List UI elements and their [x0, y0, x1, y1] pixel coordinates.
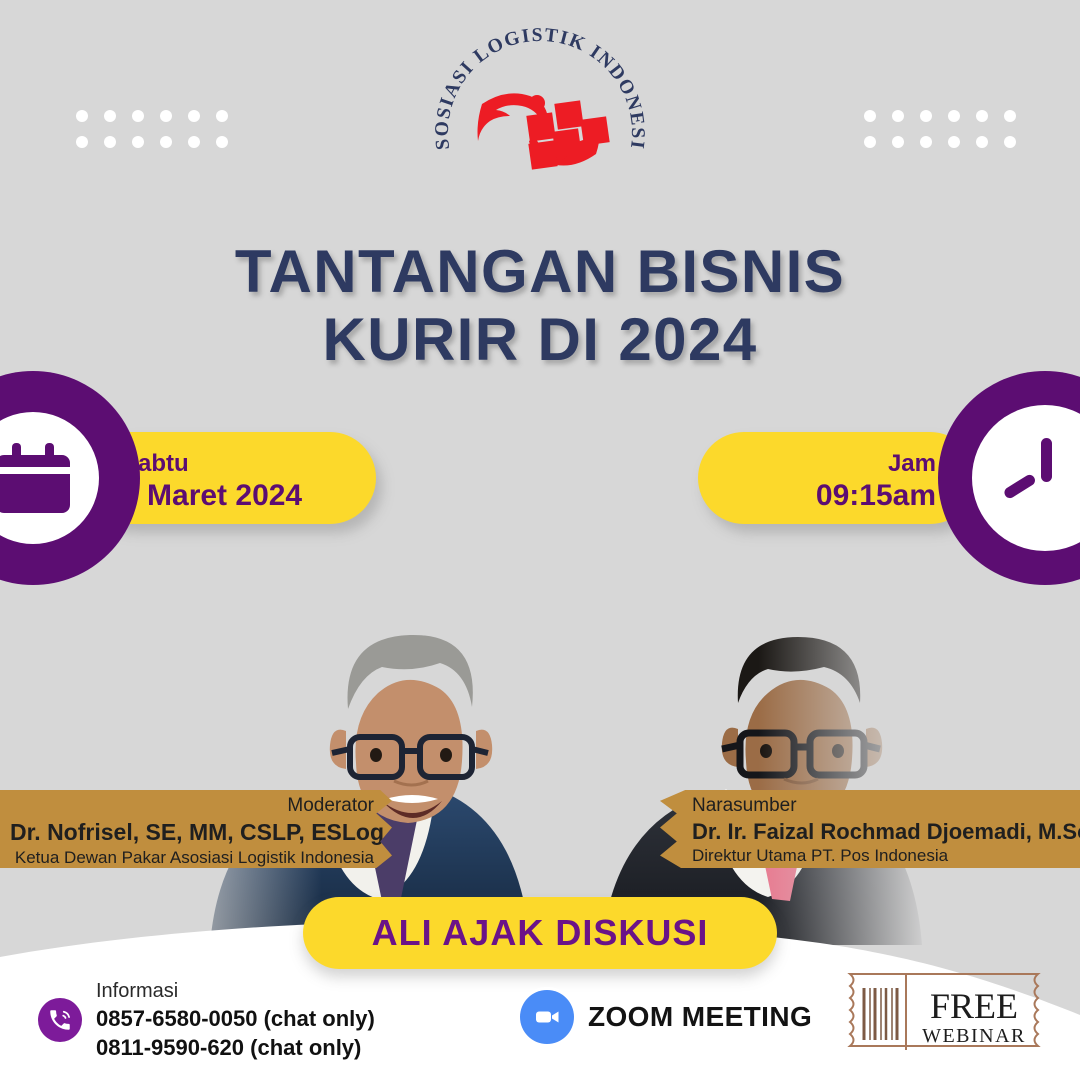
dot — [976, 110, 988, 122]
clock-badge-circle — [938, 371, 1080, 585]
dot — [948, 136, 960, 148]
dot — [104, 110, 116, 122]
narasumber-organization: Direktur Utama PT. Pos Indonesia — [692, 845, 1070, 866]
contact-text-block: Informasi 0857-6580-0050 (chat only) 081… — [96, 978, 375, 1062]
dot — [216, 110, 228, 122]
dot — [188, 136, 200, 148]
dot — [864, 110, 876, 122]
dot — [1004, 136, 1016, 148]
calendar-badge-circle — [0, 371, 140, 585]
moderator-organization: Ketua Dewan Pakar Asosiasi Logistik Indo… — [10, 847, 374, 868]
title-line-1: TANTANGAN BISNIS — [0, 238, 1080, 306]
narasumber-role: Narasumber — [692, 794, 1070, 818]
cta-label: ALI AJAK DISKUSI — [372, 912, 709, 954]
narasumber-name-banner: Narasumber Dr. Ir. Faizal Rochmad Djoema… — [660, 790, 1080, 868]
dot — [976, 136, 988, 148]
moderator-name-banner: Moderator Dr. Nofrisel, SE, MM, CSLP, ES… — [0, 790, 392, 868]
clock-icon — [972, 405, 1080, 551]
date-label: Sabtu — [122, 450, 302, 478]
time-label: Jam — [816, 450, 936, 478]
dot — [188, 110, 200, 122]
dot — [920, 110, 932, 122]
zoom-meeting-group: ZOOM MEETING — [520, 990, 812, 1044]
dot — [132, 110, 144, 122]
calendar-icon — [0, 412, 99, 544]
moderator-name: Dr. Nofrisel, SE, MM, CSLP, ESLog — [10, 818, 374, 847]
dot — [892, 136, 904, 148]
dot — [160, 110, 172, 122]
date-value: 9 Maret 2024 — [122, 478, 302, 513]
title-line-2: KURIR DI 2024 — [0, 306, 1080, 374]
phone-icon — [38, 998, 82, 1042]
dot — [216, 136, 228, 148]
dot-grid-left-decoration — [76, 110, 228, 148]
ticket-icon: FREE WEBINAR — [844, 966, 1044, 1058]
info-label: Informasi — [96, 978, 375, 1004]
dot — [76, 136, 88, 148]
ticket-line-1: FREE — [930, 986, 1018, 1026]
time-badge-pill: Jam 09:15am — [698, 432, 976, 524]
date-badge-text: Sabtu 9 Maret 2024 — [122, 450, 302, 514]
dot — [76, 110, 88, 122]
webinar-poster: ASOSIASI LOGISTIK INDONESIA TANTANGAN BI… — [0, 0, 1080, 1080]
narasumber-name: Dr. Ir. Faizal Rochmad Djoemadi, M.Sc — [692, 818, 1070, 846]
dot — [160, 136, 172, 148]
dot — [132, 136, 144, 148]
dot — [1004, 110, 1016, 122]
dot-grid-right-decoration — [864, 110, 1016, 148]
dot — [948, 110, 960, 122]
ticket-line-2: WEBINAR — [922, 1025, 1026, 1047]
speakers-photo-band — [150, 505, 930, 945]
dot — [864, 136, 876, 148]
dot — [920, 136, 932, 148]
poster-title: TANTANGAN BISNIS KURIR DI 2024 — [0, 238, 1080, 375]
moderator-role: Moderator — [10, 794, 374, 818]
time-badge-text: Jam 09:15am — [816, 450, 936, 514]
video-camera-icon — [520, 990, 574, 1044]
dot — [104, 136, 116, 148]
contact-info-group: Informasi 0857-6580-0050 (chat only) 081… — [38, 978, 375, 1062]
dot — [892, 110, 904, 122]
info-phone-2: 0811-9590-620 (chat only) — [96, 1033, 375, 1062]
info-phone-1: 0857-6580-0050 (chat only) — [96, 1004, 375, 1033]
time-value: 09:15am — [816, 478, 936, 513]
zoom-meeting-label: ZOOM MEETING — [588, 1001, 812, 1033]
asosiasi-logistik-indonesia-logo-icon: ASOSIASI LOGISTIK INDONESIA — [420, 22, 660, 222]
cta-button[interactable]: ALI AJAK DISKUSI — [303, 897, 777, 969]
